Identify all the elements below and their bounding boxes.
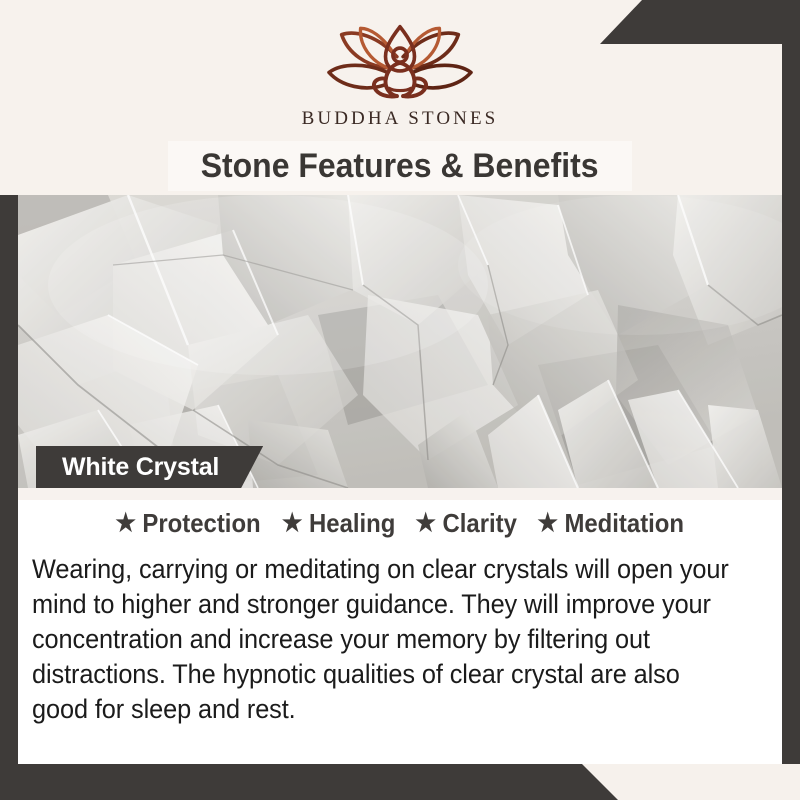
star-icon: ★ bbox=[538, 511, 559, 536]
stone-name-label: White Crystal bbox=[62, 453, 219, 482]
star-icon: ★ bbox=[415, 511, 436, 536]
stone-photo: White Crystal bbox=[18, 195, 782, 488]
frame-edge-left bbox=[0, 195, 18, 765]
benefit-label: Meditation bbox=[565, 508, 685, 539]
stone-name-ribbon: White Crystal bbox=[36, 446, 263, 488]
content-section: ★ Protection ★ Healing ★ Clarity ★ Medit… bbox=[18, 488, 782, 764]
star-icon: ★ bbox=[282, 511, 303, 536]
star-icon: ★ bbox=[116, 511, 137, 536]
frame-edge-bottom bbox=[0, 764, 800, 800]
benefit-label: Clarity bbox=[442, 508, 516, 539]
benefit-item-healing: ★ Healing bbox=[282, 508, 395, 539]
lotus-meditation-icon bbox=[320, 22, 480, 104]
infographic-card: BUDDHA STONES Stone Features & Benefits bbox=[0, 0, 800, 800]
frame-edge-right bbox=[782, 44, 800, 764]
benefit-item-protection: ★ Protection bbox=[116, 508, 261, 539]
benefit-item-clarity: ★ Clarity bbox=[415, 508, 517, 539]
stone-description: Wearing, carrying or meditating on clear… bbox=[32, 552, 735, 727]
benefit-label: Protection bbox=[143, 508, 261, 539]
content-divider bbox=[18, 488, 782, 500]
brand-name: BUDDHA STONES bbox=[302, 108, 499, 130]
benefits-row: ★ Protection ★ Healing ★ Clarity ★ Medit… bbox=[18, 508, 782, 539]
benefit-item-meditation: ★ Meditation bbox=[538, 508, 685, 539]
page-title: Stone Features & Benefits bbox=[201, 147, 599, 186]
title-panel: Stone Features & Benefits bbox=[168, 141, 632, 191]
benefit-label: Healing bbox=[309, 508, 395, 539]
